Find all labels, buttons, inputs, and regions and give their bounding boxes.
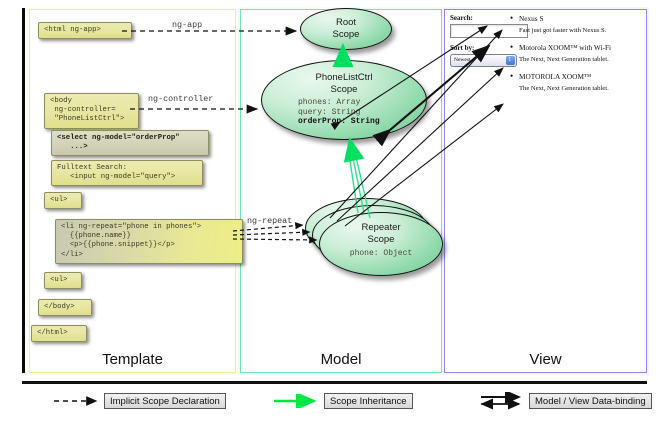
panel-template: Template [29, 9, 236, 373]
legend: Implicit Scope Declaration Scope Inherit… [22, 381, 647, 421]
view-phone-name[interactable]: Nexus S [510, 14, 640, 23]
legend-label-implicit: Implicit Scope Declaration [104, 393, 226, 409]
scope-repeater: Repeater Scope phone: Object [319, 212, 443, 276]
view-phone-name[interactable]: MOTOROLA XOOM™ [510, 72, 640, 81]
legend-label-inheritance: Scope Inheritance [324, 393, 413, 409]
list-item: MOTOROLA XOOM™ The Next, Next Generation… [510, 72, 640, 92]
legend-double-arrow-icon [479, 392, 525, 410]
code-node-body: <body ng-controller= "PhoneListCtrl"> [44, 93, 139, 129]
list-item: Nexus S Fast just got faster with Nexus … [510, 14, 640, 34]
diagram-canvas: Template Model View <html ng-app> <body … [0, 0, 661, 425]
view-phone-snippet: The Next, Next Generation tablet. [519, 85, 640, 92]
scope-repeater-title: Repeater Scope [320, 213, 442, 245]
view-content: Search: Sort by: Newest Nexus S Fast jus… [450, 14, 640, 134]
code-node-ul-close: <ul> [44, 272, 82, 289]
list-item: Motorola XOOM™ with Wi-Fi The Next, Next… [510, 43, 640, 63]
left-vertical-rule [22, 8, 25, 373]
scope-repeater-props: phone: Object [320, 249, 442, 259]
scope-phonelistctrl-props-bold: orderProp: String [262, 117, 426, 127]
code-node-ul-open: <ul> [44, 192, 82, 209]
view-phone-name[interactable]: Motorola XOOM™ with Wi-Fi [510, 43, 640, 52]
scope-phonelistctrl-props: phones: Array query: String [262, 98, 426, 117]
legend-item-inheritance: Scope Inheritance [272, 393, 413, 409]
edge-label-ng-controller: ng-controller [148, 94, 213, 104]
scope-root: Root Scope [300, 8, 392, 50]
view-phone-snippet: Fast just got faster with Nexus S. [519, 27, 640, 34]
scope-root-title: Root Scope [301, 9, 391, 40]
legend-label-databinding: Model / View Data-binding [529, 393, 652, 409]
code-node-select: <select ng-model="orderProp" ...> [51, 130, 209, 156]
view-sort-select[interactable]: Newest [450, 54, 517, 67]
panel-view-caption: View [445, 351, 646, 368]
legend-item-implicit: Implicit Scope Declaration [52, 393, 226, 409]
panel-model-caption: Model [241, 351, 441, 368]
view-phone-snippet: The Next, Next Generation tablet. [519, 56, 640, 63]
scope-phonelistctrl: PhoneListCtrl Scope phones: Array query:… [261, 60, 427, 140]
code-node-body-close: </body> [38, 299, 92, 316]
legend-item-databinding: Model / View Data-binding [479, 393, 652, 409]
panel-template-caption: Template [30, 351, 235, 368]
code-node-html: <html ng-app> [38, 22, 132, 39]
legend-divider [22, 381, 647, 384]
legend-green-arrow-icon [272, 394, 320, 408]
edge-label-ng-repeat: ng-repeat [247, 216, 292, 226]
view-phone-list: Nexus S Fast just got faster with Nexus … [510, 14, 640, 95]
code-node-li: <li ng-repeat="phone in phones"> {{phone… [55, 219, 243, 264]
code-node-search: Fulltext Search: <input ng-model="query"… [51, 160, 203, 186]
scope-phonelistctrl-title: PhoneListCtrl Scope [262, 61, 426, 95]
legend-dashed-arrow-icon [52, 394, 100, 408]
edge-label-ng-app: ng-app [172, 20, 202, 30]
view-sort-selected-value: Newest [454, 57, 471, 63]
code-node-html-close: </html> [31, 325, 87, 342]
